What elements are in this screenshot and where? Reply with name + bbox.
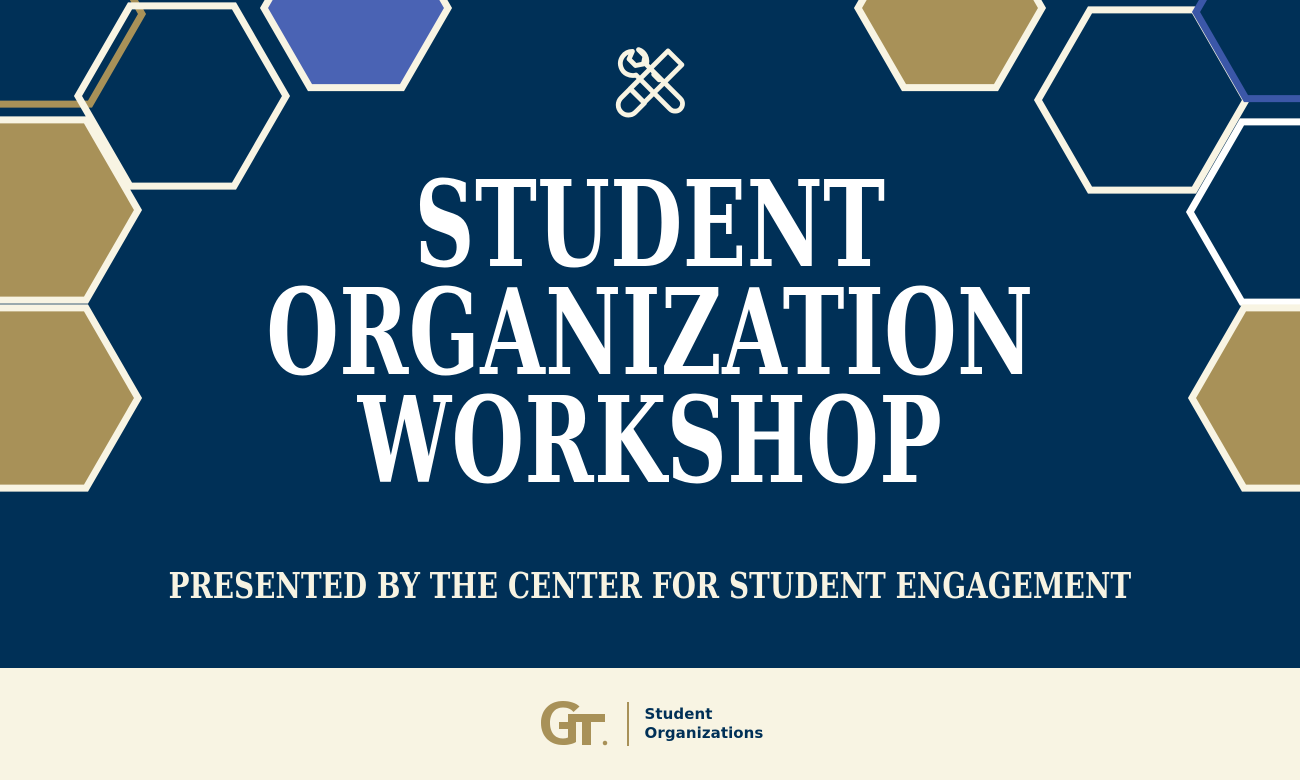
workshop-title-slide: STUDENT ORGANIZATION WORKSHOP PRESENTED … <box>0 0 1300 780</box>
gt-monogram-logo <box>537 699 609 749</box>
title-line-3: WORKSHOP <box>130 383 1170 499</box>
logo-divider <box>627 702 629 746</box>
hero-banner: STUDENT ORGANIZATION WORKSHOP PRESENTED … <box>0 0 1300 668</box>
gt-monogram-glyph <box>537 699 609 749</box>
footer-band: Student Organizations <box>0 668 1300 780</box>
subtitle-text: PRESENTED BY THE CENTER FOR STUDENT ENGA… <box>169 564 1132 606</box>
logo-lockup: Student Organizations <box>537 696 764 752</box>
subtitle-container: PRESENTED BY THE CENTER FOR STUDENT ENGA… <box>0 566 1300 605</box>
wrench-and-screwdriver-icon <box>605 38 695 128</box>
logo-wordmark-line-2: Organizations <box>645 724 764 743</box>
title-block: STUDENT ORGANIZATION WORKSHOP <box>0 174 1300 492</box>
icon-container <box>0 38 1300 128</box>
logo-wordmark: Student Organizations <box>645 705 764 743</box>
logo-wordmark-line-1: Student <box>645 705 764 724</box>
